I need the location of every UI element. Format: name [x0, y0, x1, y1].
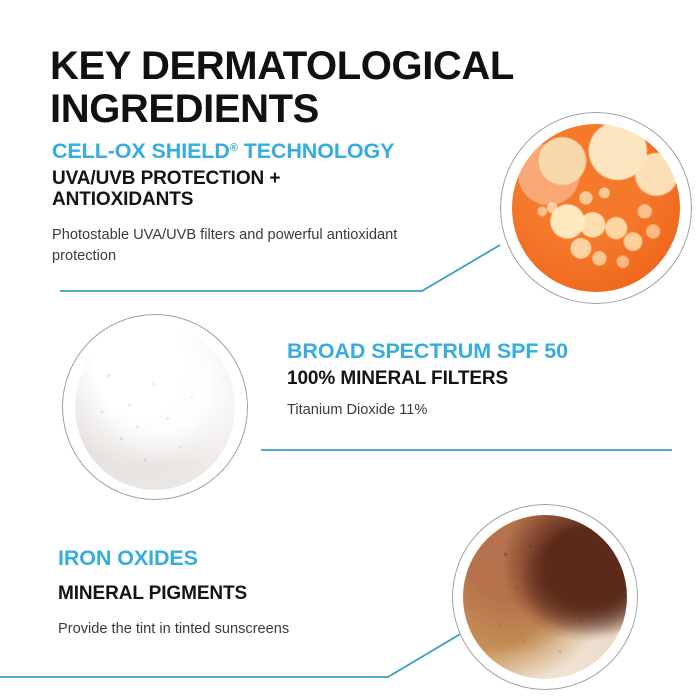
- section-heading-iron-oxides: IRON OXIDES: [58, 546, 198, 571]
- section-body-broad-spectrum: Titanium Dioxide 11%: [287, 400, 627, 421]
- white-powder-texture: [75, 324, 235, 490]
- pigment-speckle-overlay: [463, 515, 627, 679]
- section-heading-broad-spectrum: BROAD SPECTRUM SPF 50: [287, 339, 568, 364]
- ingredient-image-orange-oil: [500, 112, 692, 304]
- page-title-line-1: KEY DERMATOLOGICAL: [50, 45, 650, 88]
- iron-oxide-texture: [463, 515, 627, 679]
- ingredient-image-white-mineral-powder: [62, 314, 248, 500]
- section-heading-suffix: TECHNOLOGY: [238, 139, 395, 163]
- orange-oil-texture: [512, 124, 680, 292]
- section-heading-text: CELL-OX SHIELD: [52, 139, 230, 163]
- ingredient-image-iron-oxide-pigments: [452, 504, 638, 690]
- infographic-page: KEY DERMATOLOGICAL INGREDIENTS CELL-OX S…: [0, 0, 698, 698]
- section-heading-text: BROAD SPECTRUM SPF 50: [287, 339, 568, 363]
- section-heading-cell-ox-shield: CELL-OX SHIELD® TECHNOLOGY: [52, 139, 394, 164]
- section-subheading-broad-spectrum: 100% MINERAL FILTERS: [287, 368, 627, 389]
- registered-trademark-icon: ®: [230, 142, 238, 154]
- section-subheading-cell-ox-shield: UVA/UVB PROTECTION + ANTIOXIDANTS: [52, 168, 382, 211]
- section-subheading-iron-oxides: MINERAL PIGMENTS: [58, 583, 388, 604]
- powder-speckle-overlay: [75, 324, 235, 490]
- section-heading-text: IRON OXIDES: [58, 546, 198, 570]
